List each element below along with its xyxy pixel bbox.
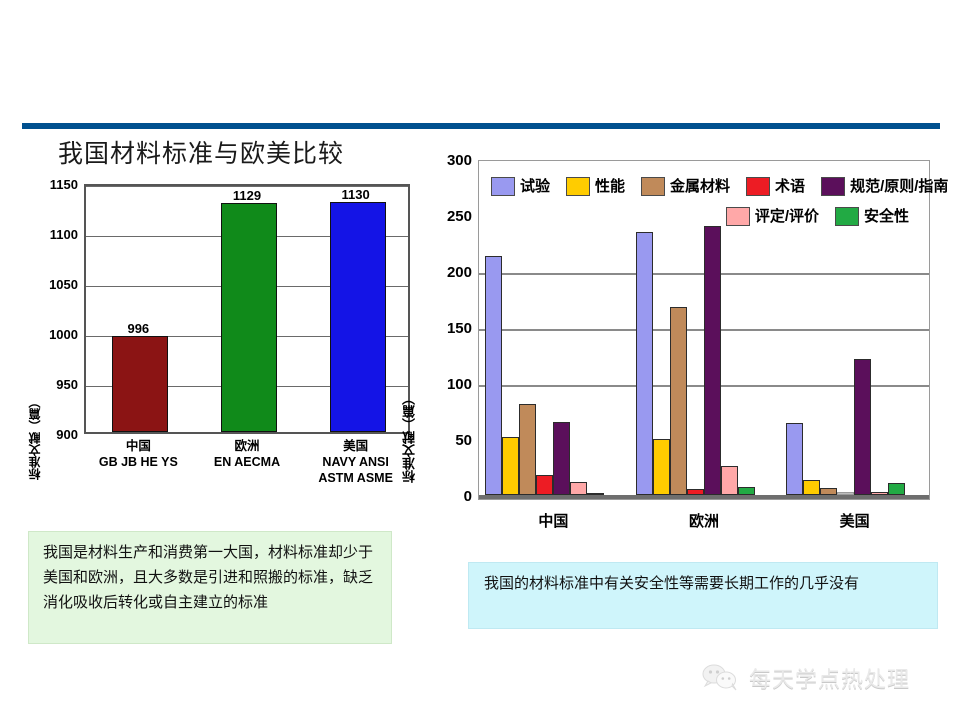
right-chart-x-label: 中国 (503, 510, 603, 531)
right-chart-axis-baseline (479, 495, 929, 499)
left-chart-x-label: 美国NAVY ANSIASTM ASME (296, 438, 416, 486)
left-chart-plot-area (84, 184, 410, 434)
legend-row-primary: 试验性能金属材料术语规范/原则/指南 (491, 173, 923, 199)
left-chart-bar-value: 1129 (207, 188, 287, 203)
left-chart-x-region: 美国 (296, 438, 416, 454)
legend-item: 规范/原则/指南 (821, 177, 948, 196)
right-chart-y-tick: 250 (418, 209, 472, 224)
right-chart-bar (636, 232, 653, 495)
title-divider-rule (22, 123, 940, 129)
left-chart-y-tick: 950 (28, 378, 78, 391)
callout-blue-note: 我国的材料标准中有关安全性等需要长期工作的几乎没有 (468, 562, 938, 629)
wechat-icon (700, 663, 740, 693)
footer-brand: 每天学点热处理 (700, 662, 910, 694)
right-chart-bar (570, 482, 587, 495)
left-chart-y-tick: 1000 (28, 328, 78, 341)
right-chart-bar (820, 488, 837, 495)
left-chart-x-label: 欧洲EN AECMA (187, 438, 307, 470)
left-chart-y-tick: 1050 (28, 278, 78, 291)
legend-swatch (835, 207, 859, 226)
left-chart-x-region: 中国 (78, 438, 198, 454)
right-chart-y-tick: 100 (418, 377, 472, 392)
left-bar-chart: 标准文献（篇） 1150110010501000950900 996112911… (28, 168, 418, 498)
right-chart-bar (653, 439, 670, 495)
left-chart-x-standards: NAVY ANSI (296, 454, 416, 470)
left-chart-x-standards: GB JB HE YS (78, 454, 198, 470)
right-chart-bar (670, 307, 687, 495)
legend-row-secondary: 评定/评价安全性 (491, 203, 923, 229)
right-chart-bar (485, 256, 502, 495)
left-chart-bar (112, 336, 168, 432)
right-chart-bar (704, 226, 721, 495)
page-title: 我国材料标准与欧美比较 (58, 134, 344, 170)
legend-swatch (566, 177, 590, 196)
left-chart-y-tick: 1100 (28, 228, 78, 241)
left-chart-y-tick: 900 (28, 428, 78, 441)
legend-label: 金属材料 (670, 179, 730, 194)
right-chart-y-tick: 50 (418, 433, 472, 448)
left-chart-x-standards: ASTM ASME (296, 470, 416, 486)
left-chart-x-region: 欧洲 (187, 438, 307, 454)
legend-item: 金属材料 (641, 177, 730, 196)
footer-brand-text: 每天学点热处理 (749, 662, 910, 694)
right-chart-x-label: 美国 (805, 510, 905, 531)
legend-swatch (821, 177, 845, 196)
right-chart-legend: 试验性能金属材料术语规范/原则/指南 评定/评价安全性 (491, 173, 923, 233)
legend-item: 术语 (746, 177, 805, 196)
right-bar-chart: 标准文献（篇） 300250200150100500 试验性能金属材料术语规范/… (400, 152, 948, 542)
left-chart-bar-value: 996 (98, 321, 178, 336)
legend-swatch (641, 177, 665, 196)
callout-green-note: 我国是材料生产和消费第一大国，材料标准却少于美国和欧洲，且大多数是引进和照搬的标… (28, 531, 392, 644)
right-chart-plot-area: 试验性能金属材料术语规范/原则/指南 评定/评价安全性 (478, 160, 930, 500)
right-chart-y-tick: 300 (418, 153, 472, 168)
right-chart-y-tick: 200 (418, 265, 472, 280)
right-chart-bar (721, 466, 738, 495)
legend-label: 评定/评价 (755, 209, 819, 224)
legend-swatch (491, 177, 515, 196)
right-chart-bar (553, 422, 570, 495)
legend-swatch (746, 177, 770, 196)
legend-label: 性能 (595, 179, 625, 194)
right-chart-bar (803, 480, 820, 495)
right-chart-x-label: 欧洲 (654, 510, 754, 531)
right-chart-bar (738, 487, 755, 495)
right-chart-bar (786, 423, 803, 495)
left-chart-x-standards: EN AECMA (187, 454, 307, 470)
left-chart-x-label: 中国GB JB HE YS (78, 438, 198, 470)
legend-item: 评定/评价 (726, 207, 819, 226)
legend-label: 术语 (775, 179, 805, 194)
left-chart-y-tick: 1150 (28, 178, 78, 191)
legend-item: 安全性 (835, 207, 909, 226)
right-chart-y-tick: 0 (418, 489, 472, 504)
left-chart-bar (330, 202, 386, 432)
right-chart-y-tick: 150 (418, 321, 472, 336)
legend-item: 试验 (491, 177, 550, 196)
right-chart-bar (854, 359, 871, 495)
legend-item: 性能 (566, 177, 625, 196)
slide-canvas: 我国材料标准与欧美比较 标准文献（篇） 11501100105010009509… (0, 0, 960, 720)
legend-label: 试验 (520, 179, 550, 194)
right-chart-bar (536, 475, 553, 495)
right-chart-bar (888, 483, 905, 495)
left-chart-bar (221, 203, 277, 432)
legend-label: 安全性 (864, 209, 909, 224)
right-chart-bar (502, 437, 519, 495)
right-chart-bar (519, 404, 536, 495)
legend-label: 规范/原则/指南 (850, 179, 948, 194)
left-chart-bar-value: 1130 (316, 187, 396, 202)
legend-swatch (726, 207, 750, 226)
